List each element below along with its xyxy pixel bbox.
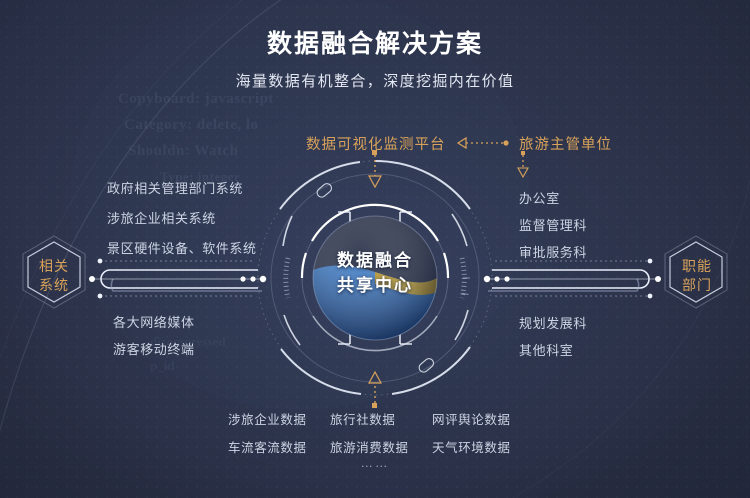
page-subtitle: 海量数据有机整合，深度挖掘内在价值 bbox=[0, 70, 750, 91]
left-item-1: 涉旅企业相关系统 bbox=[107, 208, 216, 227]
infographic-canvas: Copyboard: javascript Category: delete, … bbox=[0, 0, 750, 498]
bottom-item-r2-c2: 旅游消费数据 bbox=[330, 437, 409, 456]
gold-connector-bottom bbox=[369, 372, 381, 408]
hexagon-right-label: 职能 部门 bbox=[662, 257, 732, 295]
bottom-item-r2-c1: 车流客流数据 bbox=[228, 437, 307, 456]
right-item-1: 监督管理科 bbox=[519, 215, 587, 234]
hexagon-right-line2: 部门 bbox=[662, 276, 732, 295]
hexagon-left-line2: 系统 bbox=[19, 276, 89, 295]
page-title: 数据融合解决方案 bbox=[0, 24, 750, 60]
center-line1: 数据融合 bbox=[300, 248, 450, 273]
bottom-item-r2-c3: 天气环境数据 bbox=[432, 437, 511, 456]
center-sphere-label: 数据融合 共享中心 bbox=[300, 248, 450, 298]
bottom-ellipsis: …… bbox=[0, 456, 750, 470]
right-item-3: 规划发展科 bbox=[519, 313, 587, 332]
connector-right bbox=[484, 259, 661, 299]
left-item-3: 各大网络媒体 bbox=[113, 312, 195, 331]
left-item-4: 游客移动终端 bbox=[113, 339, 195, 358]
center-line2: 共享中心 bbox=[300, 273, 450, 298]
connector-left bbox=[89, 259, 266, 299]
left-item-0: 政府相关管理部门系统 bbox=[107, 178, 243, 197]
label-tourism-authority: 旅游主管单位 bbox=[519, 133, 612, 154]
bottom-item-r1-c2: 旅行社数据 bbox=[330, 409, 396, 428]
bottom-item-r1-c3: 网评舆论数据 bbox=[432, 409, 511, 428]
gold-arrow-between-labels bbox=[458, 138, 509, 148]
hexagon-left-line1: 相关 bbox=[19, 257, 89, 276]
right-item-2: 审批服务科 bbox=[519, 242, 587, 261]
hexagon-left-label: 相关 系统 bbox=[19, 257, 89, 295]
left-item-2: 景区硬件设备、软件系统 bbox=[107, 238, 257, 257]
right-item-4: 其他科室 bbox=[519, 340, 573, 359]
label-visualization-platform: 数据可视化监测平台 bbox=[306, 133, 446, 154]
hexagon-right-line1: 职能 bbox=[662, 257, 732, 276]
right-item-0: 办公室 bbox=[519, 188, 560, 207]
gold-connector-top bbox=[369, 150, 381, 187]
bottom-item-r1-c1: 涉旅企业数据 bbox=[228, 409, 307, 428]
gold-connector-authority bbox=[518, 151, 528, 177]
